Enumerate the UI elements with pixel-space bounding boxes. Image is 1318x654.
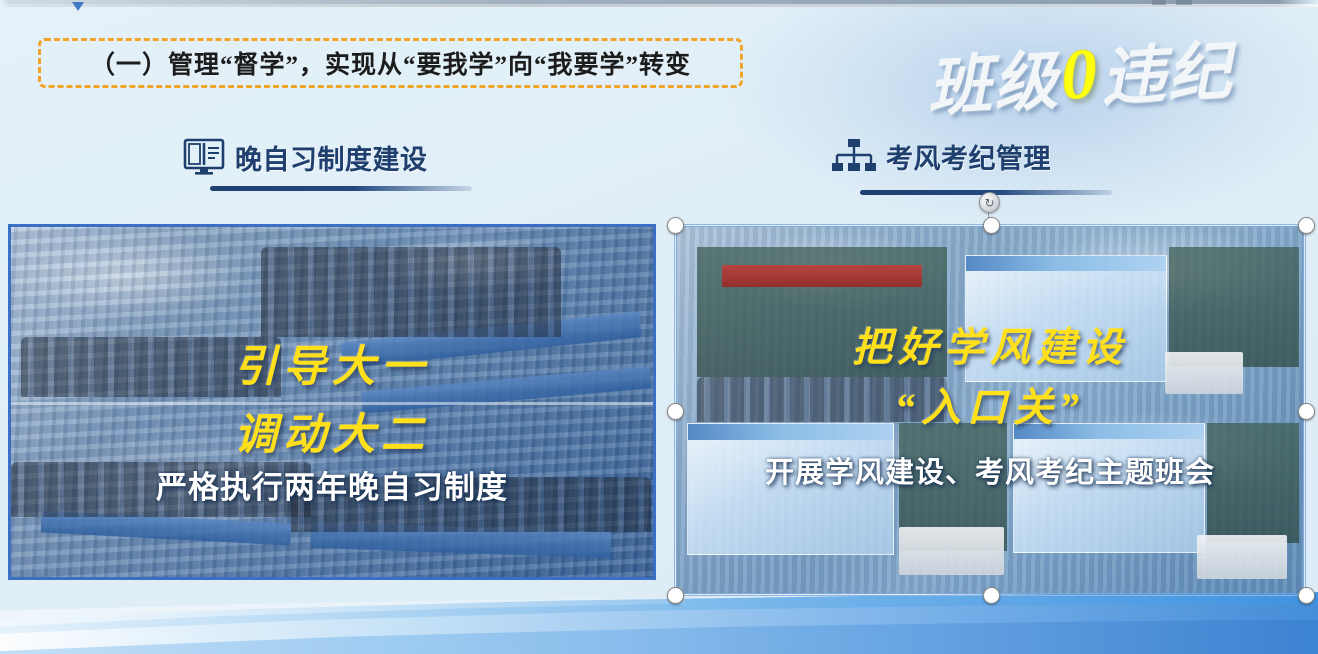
projector-screen-shape <box>687 423 894 555</box>
column-heading-right-label: 考风考纪管理 <box>886 137 1051 176</box>
art-word-prefix: 班级 <box>925 29 1062 128</box>
students-crowd <box>21 337 281 397</box>
welcome-banner-shape <box>722 265 922 287</box>
art-word-suffix: 违纪 <box>1098 20 1235 119</box>
resize-handle-middle-left[interactable] <box>667 403 684 420</box>
blackboard-shape <box>1207 423 1299 543</box>
top-marker-dash-1 <box>1152 0 1166 5</box>
resize-handle-top-left[interactable] <box>667 217 684 234</box>
section-title-text: （一）管理“督学”，实现从“要我学”向“我要学”转变 <box>90 45 691 81</box>
students-crowd <box>261 247 561 337</box>
resize-handle-bottom-right[interactable] <box>1298 587 1315 604</box>
column-heading-left-label: 晚自习制度建设 <box>235 138 428 177</box>
resize-handle-bottom-center[interactable] <box>983 587 1000 604</box>
desk-shape <box>361 366 652 413</box>
org-chart-icon <box>832 138 876 176</box>
open-book-icon <box>183 137 225 177</box>
photo-panel-left[interactable]: 引导大一 调动大二 严格执行两年晚自习制度 <box>8 224 656 580</box>
column-heading-right[interactable]: 考风考纪管理 <box>832 137 1051 176</box>
slide-top-cutoff-strip <box>0 0 1318 7</box>
podium-shape <box>1197 535 1287 579</box>
projector-screen-shape <box>965 255 1167 382</box>
column-underline-left <box>210 186 472 191</box>
classroom-photo-collage-right <box>677 227 1303 593</box>
photo-panel-right[interactable]: 把好学风建设 “入口关” 开展学风建设、考风考纪主题班会 <box>676 226 1304 594</box>
resize-handle-middle-right[interactable] <box>1298 403 1315 420</box>
rotate-handle-icon[interactable]: ↻ <box>979 192 1000 213</box>
top-marker-dash-2 <box>1176 0 1192 5</box>
presentation-slide: （一）管理“督学”，实现从“要我学”向“我要学”转变 班级 0 违纪 晚自习制度… <box>0 0 1318 654</box>
projector-screen-shape <box>1013 423 1205 553</box>
resize-handle-bottom-left[interactable] <box>667 587 684 604</box>
blackboard-shape <box>1169 247 1299 367</box>
podium-shape <box>1165 352 1243 394</box>
resize-handle-top-right[interactable] <box>1298 217 1315 234</box>
students-crowd <box>697 377 947 422</box>
art-word-banner[interactable]: 班级 0 违纪 <box>863 14 1298 134</box>
column-heading-left[interactable]: 晚自习制度建设 <box>183 137 428 177</box>
resize-handle-top-center[interactable] <box>983 217 1000 234</box>
classroom-photo-collage-left <box>11 227 653 577</box>
top-marker-triangle-icon <box>72 2 84 11</box>
podium-shape <box>899 527 1004 575</box>
section-title-box[interactable]: （一）管理“督学”，实现从“要我学”向“我要学”转变 <box>38 38 743 88</box>
students-crowd <box>11 462 311 517</box>
students-crowd <box>291 477 651 532</box>
art-word-zero: 0 <box>1059 32 1102 117</box>
